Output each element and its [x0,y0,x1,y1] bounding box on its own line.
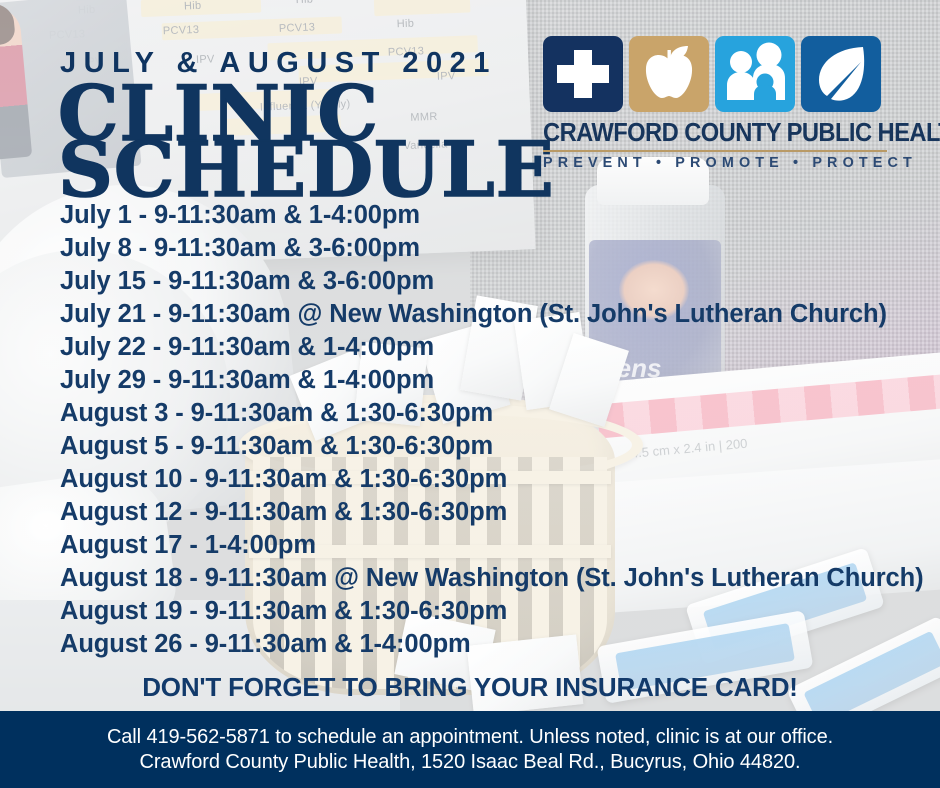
medical-cross-icon [543,36,623,112]
clinic-schedule-list: July 1 - 9-11:30am & 1-4:00pm July 8 - 9… [60,199,923,661]
page-title-line2: SCHEDULE [58,134,555,205]
leaf-icon [801,36,881,112]
schedule-item: August 3 - 9-11:30am & 1:30-6:30pm [60,397,923,430]
schedule-item: August 12 - 9-11:30am & 1:30-6:30pm [60,496,923,529]
schedule-item: July 15 - 9-11:30am & 3-6:00pm [60,265,923,298]
schedule-item: July 8 - 9-11:30am & 3-6:00pm [60,232,923,265]
organization-name: CRAWFORD COUNTY PUBLIC HEALTH [543,119,863,148]
apple-icon [629,36,709,112]
schedule-item: August 26 - 9-11:30am & 1-4:00pm [60,628,923,661]
schedule-item: August 17 - 1-4:00pm [60,529,923,562]
schedule-item: July 1 - 9-11:30am & 1-4:00pm [60,199,923,232]
organization-logo: CRAWFORD COUNTY PUBLIC HEALTH PREVENT • … [543,36,887,171]
contact-footer: Call 419-562-5871 to schedule an appoint… [0,711,940,788]
insurance-card-reminder: DON'T FORGET TO BRING YOUR INSURANCE CAR… [0,672,940,703]
logo-divider [543,150,887,152]
organization-tagline: PREVENT • PROMOTE • PROTECT [543,155,884,171]
schedule-item: August 5 - 9-11:30am & 1:30-6:30pm [60,430,923,463]
schedule-item: August 10 - 9-11:30am & 1:30-6:30pm [60,463,923,496]
clinic-schedule-flyer: Hib Hib Hib DTaP PCV13 PCV13 PCV13 Hib I… [0,0,940,788]
schedule-item: August 18 - 9-11:30am @ New Washington (… [60,562,923,595]
family-icon [715,36,795,112]
schedule-item: August 19 - 9-11:30am & 1:30-6:30pm [60,595,923,628]
schedule-item: July 29 - 9-11:30am & 1-4:00pm [60,364,923,397]
logo-icon-tiles [543,36,887,112]
schedule-item: July 22 - 9-11:30am & 1-4:00pm [60,331,923,364]
schedule-item: July 21 - 9-11:30am @ New Washington (St… [60,298,923,331]
footer-address-line: Crawford County Public Health, 1520 Isaa… [140,751,801,774]
footer-phone-line: Call 419-562-5871 to schedule an appoint… [107,726,833,749]
